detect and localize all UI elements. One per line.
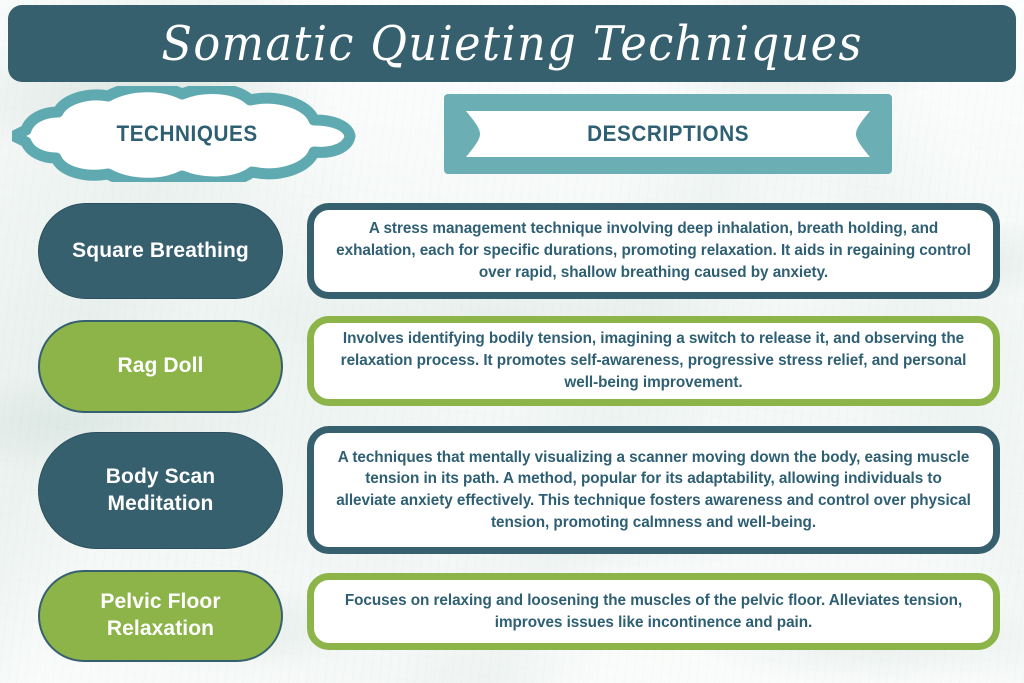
technique-label-3: Body Scan Meditation: [53, 464, 268, 518]
description-box-2: Involves identifying bodily tension, ima…: [307, 316, 1000, 406]
techniques-table: Square Breathing A stress management tec…: [0, 0, 1024, 683]
description-text-4: Focuses on relaxing and loosening the mu…: [334, 590, 973, 633]
technique-pill-4[interactable]: Pelvic Floor Relaxation: [38, 570, 283, 662]
description-text-2: Involves identifying bodily tension, ima…: [334, 328, 973, 393]
infographic-canvas: Somatic Quieting Techniques TECHNIQUES: [0, 0, 1024, 683]
description-text-1: A stress management technique involving …: [334, 218, 973, 283]
technique-pill-2[interactable]: Rag Doll: [38, 320, 283, 413]
description-box-4: Focuses on relaxing and loosening the mu…: [307, 573, 1000, 650]
description-box-1: A stress management technique involving …: [307, 203, 1000, 299]
technique-pill-3[interactable]: Body Scan Meditation: [38, 432, 283, 549]
technique-pill-1[interactable]: Square Breathing: [38, 203, 283, 299]
technique-label-2: Rag Doll: [118, 353, 204, 380]
description-box-3: A techniques that mentally visualizing a…: [307, 426, 1000, 554]
technique-label-1: Square Breathing: [72, 238, 249, 265]
technique-label-4: Pelvic Floor Relaxation: [54, 589, 267, 643]
description-text-3: A techniques that mentally visualizing a…: [334, 447, 973, 534]
